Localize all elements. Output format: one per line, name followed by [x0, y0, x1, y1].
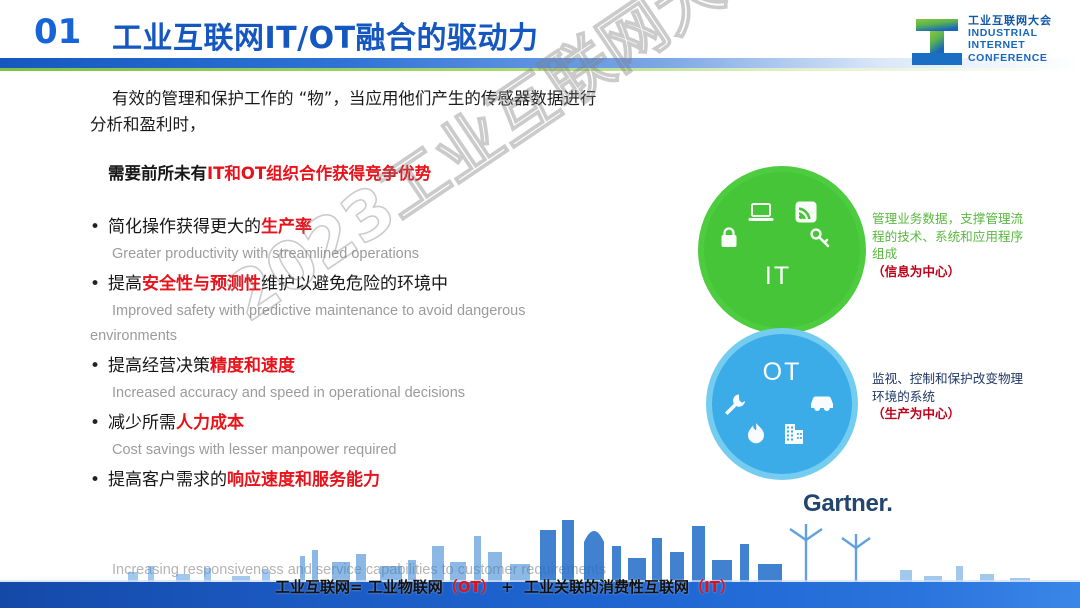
bullet-en-2-wrap: environments — [90, 324, 650, 349]
bullet-en-3: Increased accuracy and speed in operatio… — [90, 381, 650, 406]
bullet-en-4: Cost savings with lesser manpower requir… — [90, 438, 650, 463]
it-circle-label: IT — [690, 262, 866, 291]
bullet-cn-highlight: 响应速度和服务能力 — [227, 470, 380, 490]
ot-description-note: 监视、控制和保护改变物理环境的系统 （生产为中心） — [872, 370, 1032, 423]
equation-part-2: 工业关联的消费性互联网 — [524, 578, 689, 596]
equation-plus: + — [501, 578, 514, 596]
wrench-icon — [722, 392, 748, 423]
section-number: 01 — [34, 12, 81, 52]
list-item: •提高经营决策精度和速度 Increased accuracy and spee… — [90, 351, 650, 406]
bullet-cn-5: •提高客户需求的响应速度和服务能力 — [90, 465, 650, 495]
bullet-en-2: Improved safety with predictive maintena… — [90, 299, 657, 324]
source-gartner-logo: Gartner. — [803, 490, 893, 518]
intro-paragraph: 有效的管理和保护工作的 “物”，当应用他们产生的传感器数据进行 分析和盈利时， — [90, 86, 750, 138]
bullet-marker-icon: • — [90, 212, 108, 242]
logo-cn-name: 工业互联网大会 — [968, 14, 1052, 27]
bullet-en-1: Greater productivity with streamlined op… — [90, 242, 650, 267]
list-item: •提高安全性与预测性维护以避免危险的环境中 Improved safety wi… — [90, 269, 650, 349]
it-note-highlight: （信息为中心） — [872, 264, 960, 279]
it-ot-venn-diagram: IT OT — [690, 166, 890, 496]
bullet-marker-icon: • — [90, 351, 108, 381]
benefits-list: •简化操作获得更大的生产率 Greater productivity with … — [90, 212, 650, 497]
lead-statement: 需要前所未有IT和OT组织合作获得竞争优势 — [108, 160, 431, 184]
it-description-note: 管理业务数据，支撑管理流程的技术、系统和应用程序组成 （信息为中心） — [872, 210, 1032, 280]
bullet-cn-1: •简化操作获得更大的生产率 — [90, 212, 650, 242]
logo-en-line3: CONFERENCE — [968, 52, 1052, 64]
factory-building-icon — [782, 422, 806, 451]
equation-it-label: （IT） — [689, 578, 735, 596]
conference-logo-text: 工业互联网大会 INDUSTRIAL INTERNET CONFERENCE — [968, 14, 1052, 64]
bullet-cn-4: •减少所需人力成本 — [90, 408, 650, 438]
logo-en-line1: INDUSTRIAL — [968, 27, 1052, 39]
ot-note-text: 监视、控制和保护改变物理环境的系统 — [872, 371, 1023, 404]
footer-equation: 工业互联网= 工业物联网（OT） + 工业关联的消费性互联网（IT） — [275, 576, 735, 597]
bullet-cn-prefix: 提高经营决策 — [108, 356, 210, 376]
wifi-signal-icon — [794, 200, 818, 229]
lead-prefix: 需要前所未有 — [108, 164, 207, 183]
slide-root: 01 工业互联网IT/OT融合的驱动力 工业互联网大会 I — [0, 0, 1080, 608]
list-item: •减少所需人力成本 Cost savings with lesser manpo… — [90, 408, 650, 463]
bullet-cn-suffix: 维护以避免危险的环境中 — [261, 274, 448, 294]
list-item: •简化操作获得更大的生产率 Greater productivity with … — [90, 212, 650, 267]
bullet-cn-prefix: 提高 — [108, 274, 142, 294]
car-icon — [808, 392, 836, 417]
ot-note-highlight: （生产为中心） — [872, 406, 960, 421]
bullet-marker-icon: • — [90, 465, 108, 495]
key-icon — [810, 228, 832, 255]
bullet-cn-highlight: 生产率 — [261, 217, 312, 237]
logo-en-line2: INTERNET — [968, 39, 1052, 51]
bullet-cn-prefix: 减少所需 — [108, 413, 176, 433]
bullet-cn-3: •提高经营决策精度和速度 — [90, 351, 650, 381]
intro-line-2: 分析和盈利时， — [90, 115, 206, 134]
equation-ot-label: （OT） — [443, 578, 496, 596]
intro-line-1: 有效的管理和保护工作的 “物”，当应用他们产生的传感器数据进行 — [112, 89, 596, 108]
conference-logo: 工业互联网大会 INDUSTRIAL INTERNET CONFERENCE — [910, 14, 1066, 70]
gong-character-logo-icon — [910, 16, 964, 66]
lead-highlight: IT和OT组织合作获得竞争优势 — [207, 164, 431, 183]
equation-part-1: 工业互联网= 工业物联网 — [275, 578, 443, 596]
bullet-cn-2: •提高安全性与预测性维护以避免危险的环境中 — [90, 269, 650, 299]
bullet-marker-icon: • — [90, 269, 108, 299]
bullet-cn-highlight: 精度和速度 — [210, 356, 295, 376]
ot-circle-label: OT — [690, 358, 874, 387]
flame-icon — [746, 422, 766, 451]
bullet-cn-highlight: 人力成本 — [176, 413, 244, 433]
bullet-cn-prefix: 提高客户需求的 — [108, 470, 227, 490]
it-note-text: 管理业务数据，支撑管理流程的技术、系统和应用程序组成 — [872, 211, 1023, 261]
lock-icon — [718, 226, 740, 255]
bullet-cn-highlight: 安全性与预测性 — [142, 274, 261, 294]
bullet-marker-icon: • — [90, 408, 108, 438]
bullet-cn-prefix: 简化操作获得更大的 — [108, 217, 261, 237]
laptop-icon — [748, 202, 774, 229]
page-title: 工业互联网IT/OT融合的驱动力 — [112, 13, 539, 57]
list-item: •提高客户需求的响应速度和服务能力 — [90, 465, 650, 495]
